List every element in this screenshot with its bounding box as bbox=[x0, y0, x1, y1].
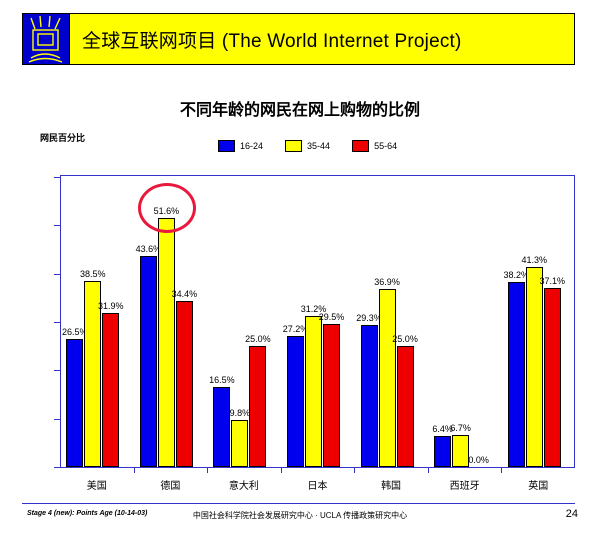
x-axis-tick-mark bbox=[354, 468, 355, 473]
x-axis-tick-mark bbox=[428, 468, 429, 473]
bar bbox=[231, 420, 248, 467]
x-axis-tick-mark bbox=[134, 468, 135, 473]
bar-value-label: 41.3% bbox=[518, 255, 551, 265]
bar bbox=[249, 346, 266, 467]
bar bbox=[287, 336, 304, 467]
legend-label: 16-24 bbox=[240, 141, 263, 151]
y-axis-tick-mark bbox=[54, 419, 60, 420]
bar bbox=[213, 387, 230, 467]
y-axis-tick-mark bbox=[54, 274, 60, 275]
chart-legend: 16-2435-4455-64 bbox=[218, 140, 397, 152]
legend-label: 35-44 bbox=[307, 141, 330, 151]
bar-value-label: 36.9% bbox=[371, 277, 404, 287]
bar-value-label: 6.7% bbox=[444, 423, 477, 433]
bar-value-label: 38.5% bbox=[76, 269, 109, 279]
bar bbox=[176, 301, 193, 467]
legend-swatch bbox=[218, 140, 235, 152]
bar-value-label: 37.1% bbox=[536, 276, 569, 286]
logo-graphic bbox=[23, 14, 69, 64]
x-axis-category-label: 西班牙 bbox=[428, 477, 502, 492]
bar bbox=[508, 282, 525, 467]
footer-divider bbox=[22, 503, 575, 504]
bar-value-label: 25.0% bbox=[389, 334, 422, 344]
header-banner: 全球互联网项目 (The World Internet Project) bbox=[22, 13, 575, 65]
bar-value-label: 0.0% bbox=[462, 455, 495, 465]
bar bbox=[526, 267, 543, 467]
x-axis-category-label: 德国 bbox=[134, 477, 208, 492]
bar bbox=[379, 289, 396, 467]
x-axis-category-label: 日本 bbox=[281, 477, 355, 492]
bar-value-label: 31.9% bbox=[94, 301, 127, 311]
monitor-burst-logo bbox=[22, 13, 70, 65]
legend-swatch bbox=[352, 140, 369, 152]
legend-entry: 16-24 bbox=[218, 140, 263, 152]
x-axis-category-label: 美国 bbox=[60, 477, 134, 492]
y-axis-title: 网民百分比 bbox=[40, 131, 85, 144]
x-axis-tick-mark bbox=[501, 468, 502, 473]
footer-page-number: 24 bbox=[566, 508, 578, 520]
bar bbox=[305, 316, 322, 467]
bar bbox=[66, 339, 83, 467]
x-axis-category-label: 韩国 bbox=[354, 477, 428, 492]
bar-value-label: 29.5% bbox=[315, 312, 348, 322]
y-axis-tick-mark bbox=[54, 177, 60, 178]
bar bbox=[140, 256, 157, 467]
bar bbox=[323, 324, 340, 467]
bar bbox=[102, 313, 119, 467]
plot-area: 26.5%38.5%31.9%43.6%51.6%34.4%16.5%9.8%2… bbox=[60, 175, 575, 467]
bar-value-label: 25.0% bbox=[241, 334, 274, 344]
legend-entry: 55-64 bbox=[352, 140, 397, 152]
bar bbox=[361, 325, 378, 467]
x-axis-tick-mark bbox=[281, 468, 282, 473]
legend-label: 55-64 bbox=[374, 141, 397, 151]
y-axis-tick-mark bbox=[54, 322, 60, 323]
y-axis-tick-mark bbox=[54, 370, 60, 371]
x-axis-category-label: 英国 bbox=[501, 477, 575, 492]
bar-value-label: 34.4% bbox=[168, 289, 201, 299]
legend-swatch bbox=[285, 140, 302, 152]
bar bbox=[434, 436, 451, 467]
legend-entry: 35-44 bbox=[285, 140, 330, 152]
chart-title: 不同年龄的网民在网上购物的比例 bbox=[0, 96, 600, 120]
page-title: 全球互联网项目 (The World Internet Project) bbox=[70, 26, 462, 53]
bar bbox=[158, 218, 175, 467]
bar-value-label: 51.6% bbox=[150, 206, 183, 216]
x-axis-category-label: 意大利 bbox=[207, 477, 281, 492]
y-axis-tick-mark bbox=[54, 225, 60, 226]
footer-center-note: 中国社会科学院社会发展研究中心 · UCLA 传播政策研究中心 bbox=[0, 510, 600, 521]
bar-value-label: 16.5% bbox=[205, 375, 238, 385]
y-axis-tick-mark bbox=[54, 467, 60, 468]
bar bbox=[397, 346, 414, 467]
header-title-box: 全球互联网项目 (The World Internet Project) bbox=[69, 13, 575, 65]
x-axis-tick-mark bbox=[207, 468, 208, 473]
bar bbox=[544, 288, 561, 467]
